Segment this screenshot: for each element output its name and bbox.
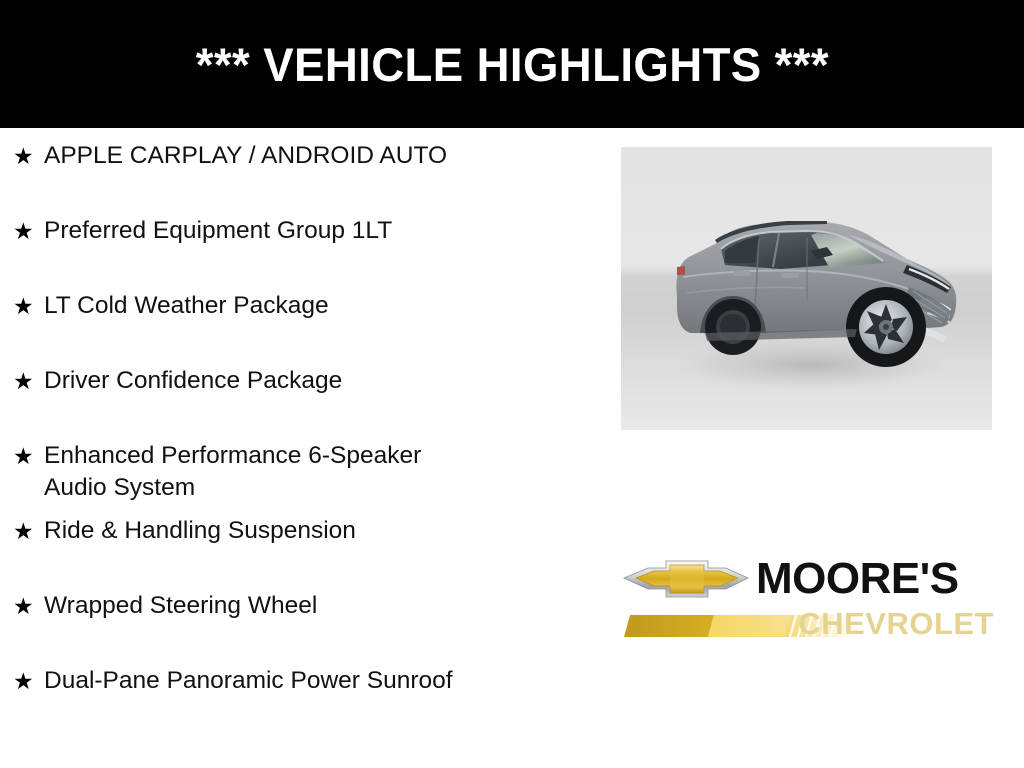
list-item: ★ Enhanced Performance 6-Speaker Audio S… [10, 440, 570, 515]
list-item: ★ APPLE CARPLAY / ANDROID AUTO [10, 140, 570, 215]
vehicle-highlights-page: *** VEHICLE HIGHLIGHTS *** ★ APPLE CARPL… [0, 0, 1024, 768]
star-icon: ★ [10, 215, 44, 247]
list-item-label: Preferred Equipment Group 1LT [44, 215, 514, 247]
list-item-label: Dual-Pane Panoramic Power Sunroof [44, 665, 514, 697]
star-icon: ★ [10, 290, 44, 322]
vehicle-photo [621, 147, 992, 430]
list-item-label: APPLE CARPLAY / ANDROID AUTO [44, 140, 514, 172]
list-item: ★ LT Cold Weather Package [10, 290, 570, 365]
vehicle-highlights-list: ★ APPLE CARPLAY / ANDROID AUTO ★ Preferr… [10, 140, 570, 740]
list-item-label: LT Cold Weather Package [44, 290, 514, 322]
dealer-logo-secondary-row: CHEVROLET [622, 605, 994, 645]
dealer-brand-name: MOORE'S [756, 556, 959, 602]
chevrolet-bowtie-icon [622, 556, 750, 602]
list-item: ★ Preferred Equipment Group 1LT [10, 215, 570, 290]
page-title: *** VEHICLE HIGHLIGHTS *** [195, 37, 828, 92]
list-item: ★ Driver Confidence Package [10, 365, 570, 440]
header-bar: *** VEHICLE HIGHLIGHTS *** [0, 0, 1024, 128]
list-item-label: Driver Confidence Package [44, 365, 514, 397]
list-item-label: Enhanced Performance 6-Speaker Audio Sys… [44, 440, 514, 504]
star-icon: ★ [10, 665, 44, 697]
star-icon: ★ [10, 140, 44, 172]
star-icon: ★ [10, 365, 44, 397]
list-item-label: Wrapped Steering Wheel [44, 590, 514, 622]
list-item: ★ Wrapped Steering Wheel [10, 590, 570, 665]
list-item: ★ Ride & Handling Suspension [10, 515, 570, 590]
dealer-brand-sub: CHEVROLET [798, 605, 994, 643]
dealer-logo: MOORE'S [622, 553, 994, 645]
star-icon: ★ [10, 440, 44, 472]
star-icon: ★ [10, 515, 44, 547]
list-item: ★ Dual-Pane Panoramic Power Sunroof [10, 665, 570, 740]
star-icon: ★ [10, 590, 44, 622]
dealer-logo-primary-row: MOORE'S [622, 553, 994, 605]
vehicle-illustration [621, 147, 992, 430]
list-item-label: Ride & Handling Suspension [44, 515, 514, 547]
